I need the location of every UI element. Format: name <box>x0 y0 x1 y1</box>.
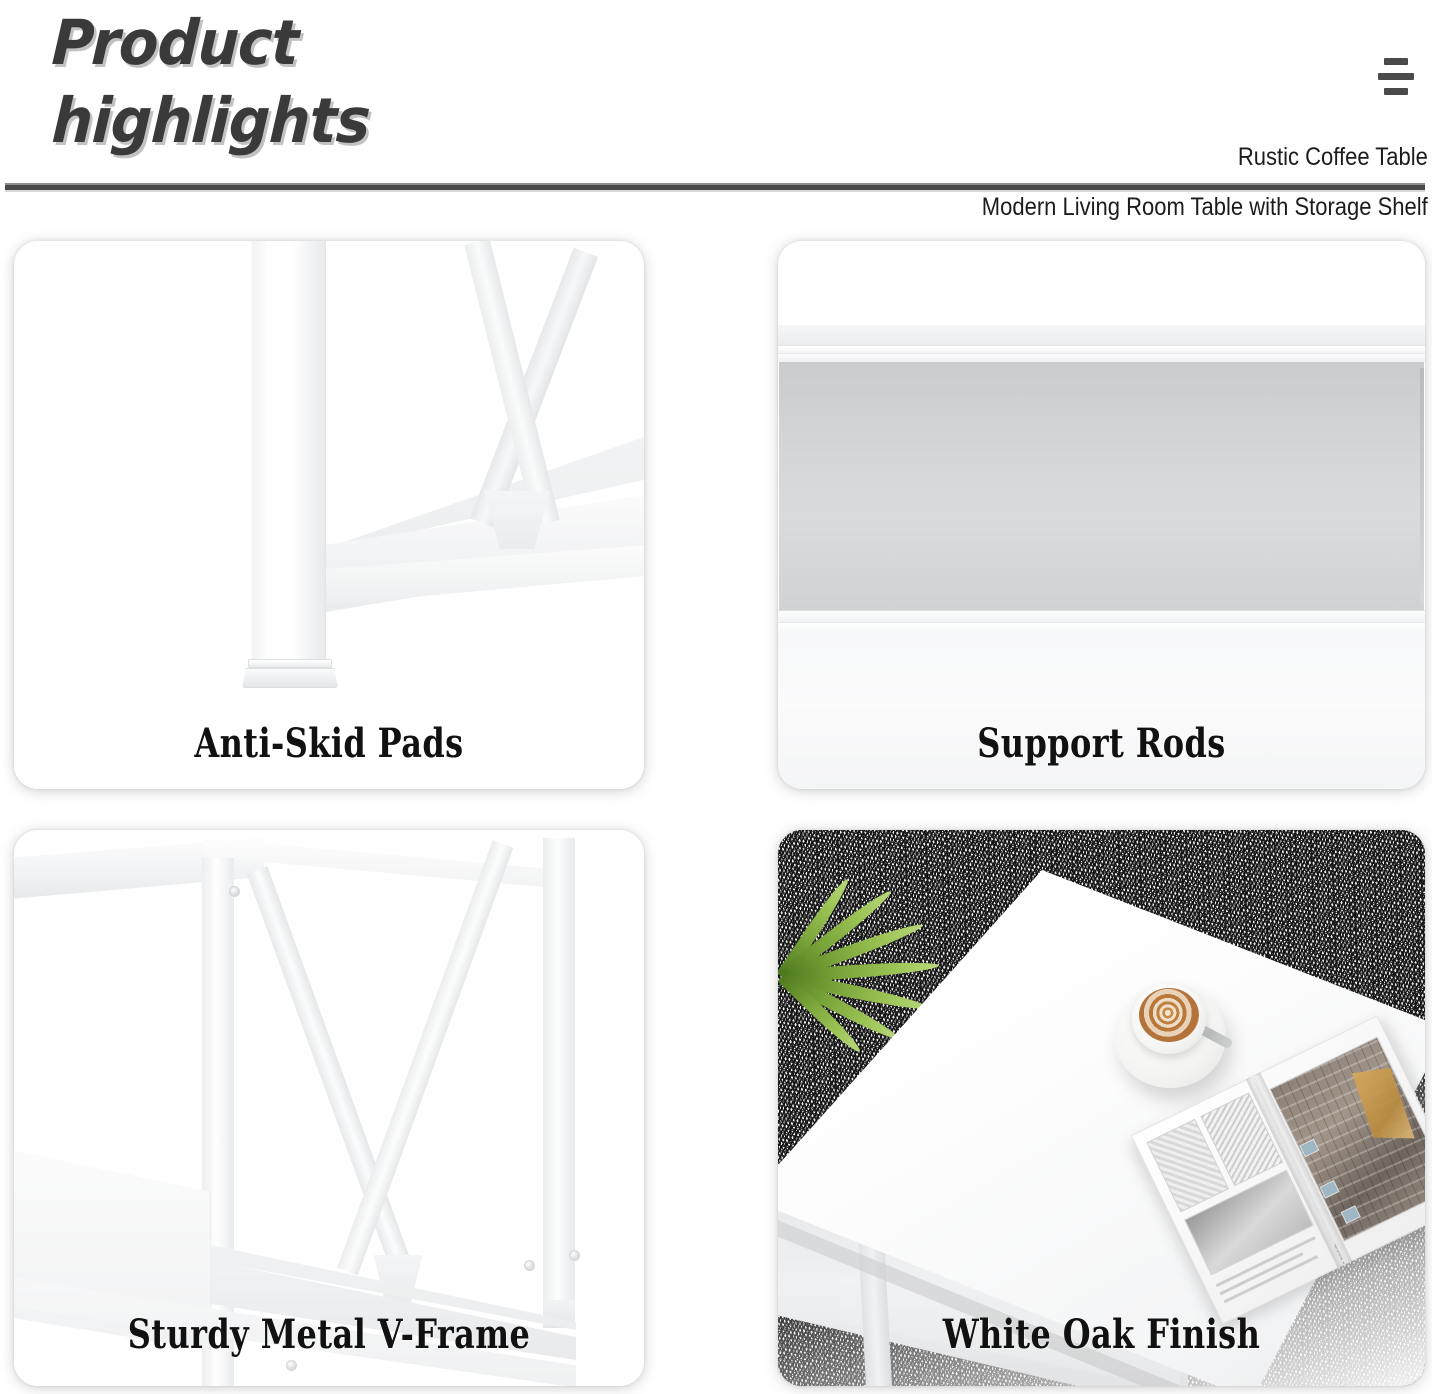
page-header: Product highlights Rustic Coffee Table M… <box>0 0 1432 216</box>
support-rods-image <box>778 241 1425 789</box>
product-subtitle-primary: Rustic Coffee Table <box>1238 142 1428 172</box>
highlight-card-sturdy-metal-v-frame[interactable]: Sturdy Metal V-Frame <box>14 830 644 1386</box>
rod-lower-edge-1 <box>778 610 1425 622</box>
hamburger-menu-icon[interactable] <box>1378 58 1414 100</box>
table-leg-post <box>252 241 326 687</box>
card-label-white-oak-finish: White Oak Finish <box>843 1311 1361 1358</box>
white-oak-finish-image <box>778 830 1425 1386</box>
page-title-line-2: highlights <box>50 82 705 160</box>
product-subtitle-secondary: Modern Living Room Table with Storage Sh… <box>982 192 1428 222</box>
anti-skid-pads-image <box>14 241 644 789</box>
highlight-card-white-oak-finish[interactable]: White Oak Finish <box>778 830 1425 1386</box>
screw-icon <box>229 886 240 897</box>
support-rod-body <box>779 362 1424 610</box>
anti-skid-pad <box>242 659 338 689</box>
screw-icon <box>286 1360 297 1371</box>
highlight-card-grid: Anti-Skid Pads Support Rods <box>0 233 1432 1393</box>
screw-icon <box>569 1250 580 1261</box>
rod-lower-edge-2 <box>778 622 1425 632</box>
card-label-sturdy-metal-v-frame: Sturdy Metal V-Frame <box>77 1311 581 1358</box>
highlight-card-support-rods[interactable]: Support Rods <box>778 241 1425 789</box>
menu-bar-bottom <box>1384 88 1408 95</box>
card-label-anti-skid-pads: Anti-Skid Pads <box>77 720 581 767</box>
rod-secondary-band <box>778 354 1425 362</box>
coffee-cup <box>1114 978 1226 1090</box>
v-frame-image <box>14 830 644 1386</box>
page-title-line-1: Product <box>50 4 705 82</box>
rod-highlight-rail <box>778 345 1425 354</box>
menu-bar-top <box>1384 58 1408 65</box>
menu-bar-middle <box>1378 73 1414 80</box>
header-divider <box>5 183 1425 192</box>
table-leg-right <box>543 838 575 1318</box>
highlight-card-anti-skid-pads[interactable]: Anti-Skid Pads <box>14 241 644 789</box>
screw-icon <box>524 1260 535 1271</box>
latte-art <box>1139 988 1199 1042</box>
rod-upper-band <box>778 325 1425 347</box>
card-label-support-rods: Support Rods <box>843 720 1361 767</box>
page-title: Product highlights <box>52 4 752 160</box>
